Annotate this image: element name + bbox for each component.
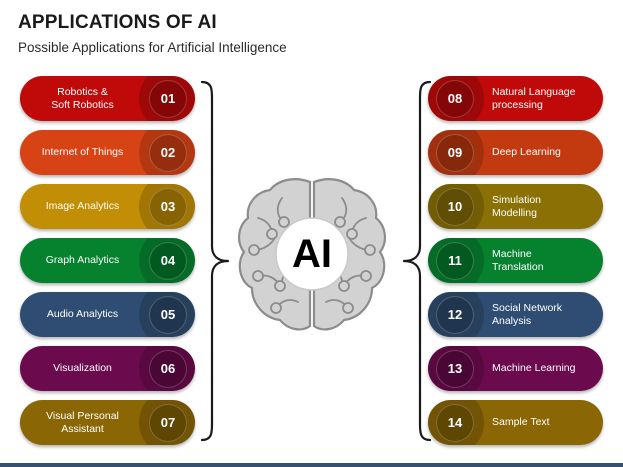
application-item-12[interactable]: 12Social NetworkAnalysis	[428, 292, 603, 337]
application-item-04[interactable]: Graph Analytics04	[20, 238, 195, 283]
left-brace-connector	[198, 76, 234, 451]
slide-canvas: APPLICATIONS OF AI Possible Applications…	[0, 0, 623, 467]
item-label: Audio Analytics	[20, 308, 145, 321]
right-brace-connector	[398, 76, 434, 451]
item-label: Graph Analytics	[20, 254, 145, 267]
item-label: Internet of Things	[20, 146, 145, 159]
page-title: APPLICATIONS OF AI	[18, 12, 217, 34]
application-item-13[interactable]: 13Machine Learning	[428, 346, 603, 391]
application-item-08[interactable]: 08Natural Languageprocessing	[428, 76, 603, 121]
item-number-badge: 14	[436, 404, 474, 442]
item-number-badge: 12	[436, 296, 474, 334]
item-number-badge: 04	[149, 242, 187, 280]
item-number-badge: 07	[149, 404, 187, 442]
application-item-02[interactable]: Internet of Things02	[20, 130, 195, 175]
application-item-03[interactable]: Image Analytics03	[20, 184, 195, 229]
application-item-14[interactable]: 14Sample Text	[428, 400, 603, 445]
item-label: Social NetworkAnalysis	[478, 302, 603, 328]
left-items-column: Robotics &Soft Robotics01Internet of Thi…	[20, 76, 195, 454]
item-number-badge: 10	[436, 188, 474, 226]
item-number-badge: 06	[149, 350, 187, 388]
item-number-badge: 11	[436, 242, 474, 280]
item-number-badge: 09	[436, 134, 474, 172]
right-items-column: 08Natural Languageprocessing09Deep Learn…	[428, 76, 603, 454]
item-label: Deep Learning	[478, 146, 603, 159]
item-label: Natural Languageprocessing	[478, 86, 603, 112]
item-label: Visual PersonalAssistant	[20, 410, 145, 436]
item-label: SimulationModelling	[478, 194, 603, 220]
item-number-badge: 08	[436, 80, 474, 118]
item-label: Visualization	[20, 362, 145, 375]
item-number-badge: 05	[149, 296, 187, 334]
item-label: Image Analytics	[20, 200, 145, 213]
item-number-badge: 13	[436, 350, 474, 388]
center-label: AI	[292, 232, 332, 276]
application-item-11[interactable]: 11MachineTranslation	[428, 238, 603, 283]
item-label: Sample Text	[478, 416, 603, 429]
application-item-07[interactable]: Visual PersonalAssistant07	[20, 400, 195, 445]
application-item-01[interactable]: Robotics &Soft Robotics01	[20, 76, 195, 121]
item-number-badge: 03	[149, 188, 187, 226]
application-item-06[interactable]: Visualization06	[20, 346, 195, 391]
brain-circuit-icon: AI	[232, 172, 392, 337]
item-label: MachineTranslation	[478, 248, 603, 274]
application-item-09[interactable]: 09Deep Learning	[428, 130, 603, 175]
item-number-badge: 02	[149, 134, 187, 172]
item-label: Robotics &Soft Robotics	[20, 86, 145, 112]
item-number-badge: 01	[149, 80, 187, 118]
page-subtitle: Possible Applications for Artificial Int…	[18, 40, 287, 55]
item-label: Machine Learning	[478, 362, 603, 375]
application-item-10[interactable]: 10SimulationModelling	[428, 184, 603, 229]
application-item-05[interactable]: Audio Analytics05	[20, 292, 195, 337]
